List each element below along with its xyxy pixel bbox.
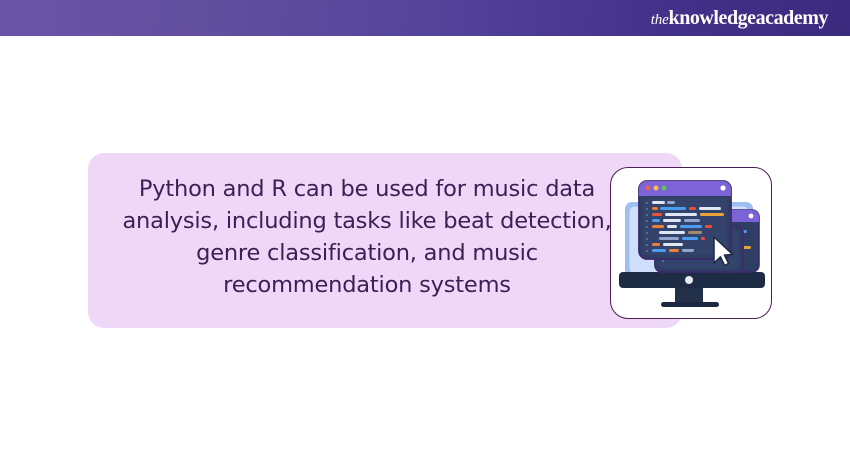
callout-text: Python and R can be used for music data …	[102, 173, 632, 301]
editor-gutter	[646, 202, 648, 252]
brand-logo-main: knowledgeacademy	[669, 8, 828, 28]
coding-monitor-illustration	[611, 168, 771, 318]
callout-block: Python and R can be used for music data …	[88, 153, 682, 328]
illustration-card	[610, 167, 772, 319]
header-bar: theknowledgeacademy	[0, 0, 850, 36]
traffic-light-yellow	[654, 186, 659, 191]
editor-menu-dot	[720, 185, 725, 190]
monitor-power-dot	[685, 276, 693, 284]
traffic-light-green	[662, 186, 667, 191]
brand-logo-the: the	[651, 13, 669, 28]
editor-titlebar	[639, 181, 731, 196]
brand-logo[interactable]: theknowledgeacademy	[651, 8, 828, 28]
traffic-light-red	[646, 186, 651, 191]
